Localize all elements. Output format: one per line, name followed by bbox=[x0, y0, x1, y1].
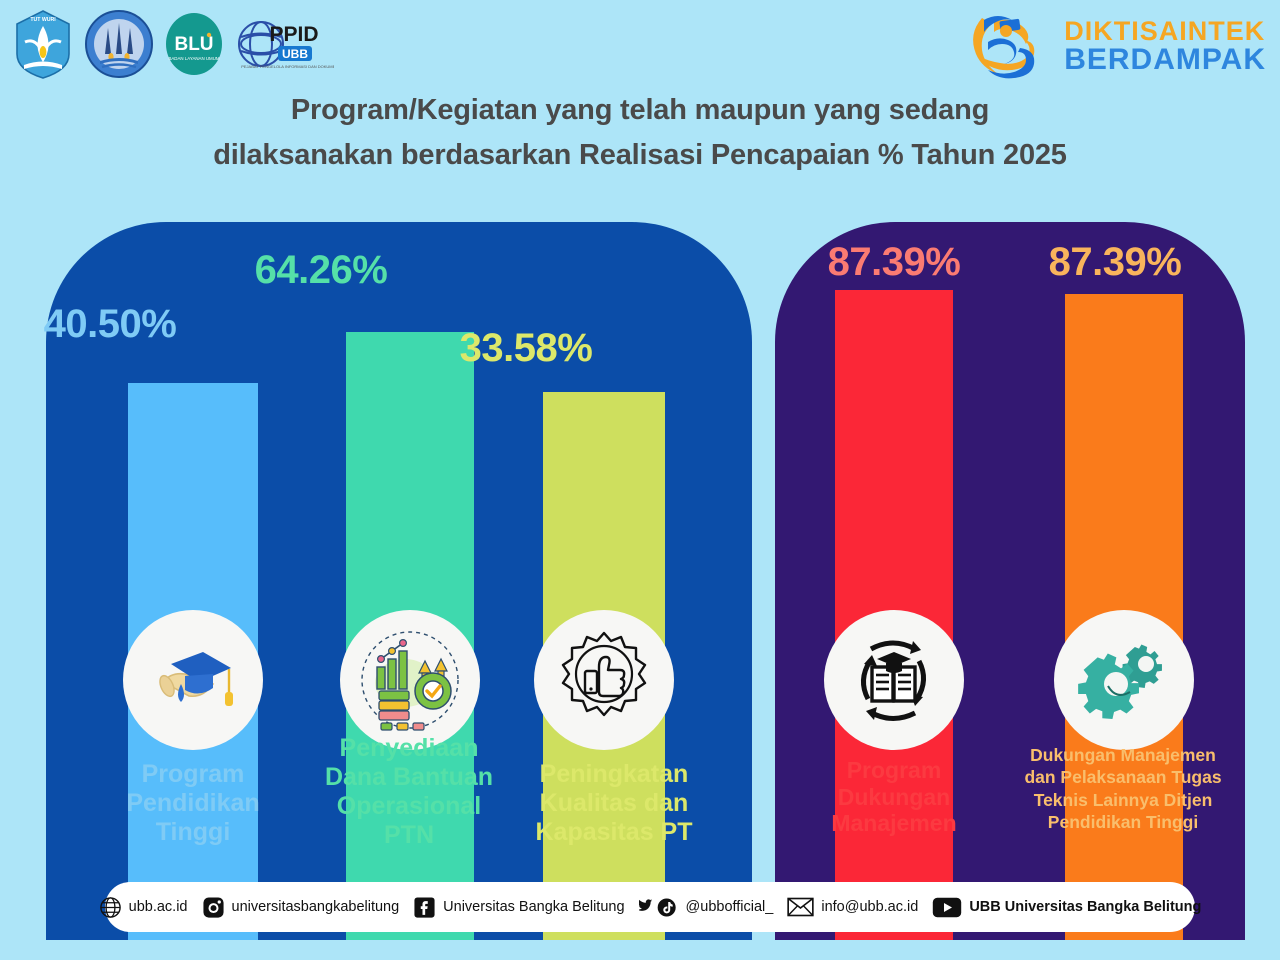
footer-social-handle-text: @ubbofficial_ bbox=[686, 899, 774, 915]
footer-instagram-text: universitasbangkabelitung bbox=[232, 899, 400, 915]
envelope-icon bbox=[787, 897, 814, 917]
program-pendidikan-tinggi-panel: 40.50% Program Pendidikan Tinggi 64.26% bbox=[46, 222, 752, 940]
brand-line-2: BERDAMPAK bbox=[1064, 43, 1266, 76]
person-swoosh-icon bbox=[964, 8, 1052, 84]
bar-label-program-dukungan-manajemen: Program Dukungan Manajemen bbox=[808, 757, 980, 837]
svg-text:BLU: BLU bbox=[174, 34, 213, 55]
program-dukungan-manajemen-panel: 87.39% Progr bbox=[775, 222, 1245, 940]
svg-text:TUT WURI: TUT WURI bbox=[30, 17, 56, 23]
title-line-2: dilaksanakan berdasarkan Realisasi Penca… bbox=[0, 133, 1280, 178]
footer-item-email[interactable]: info@ubb.ac.id bbox=[787, 897, 918, 917]
graduation-cap-diploma-icon bbox=[123, 610, 263, 750]
analytics-chart-gear-icon bbox=[340, 610, 480, 750]
universitas-bangka-belitung-seal bbox=[84, 8, 154, 80]
footer-facebook-text: Universitas Bangka Belitung bbox=[443, 899, 624, 915]
footer-item-social-handle[interactable]: @ubbofficial_ bbox=[639, 896, 774, 919]
bar-value-dukungan-manajemen-teknis: 87.39% bbox=[985, 240, 1245, 285]
tut-wuri-handayani-logo: TUT WURI bbox=[12, 8, 74, 80]
footer-youtube-text: UBB Universitas Bangka Belitung bbox=[969, 899, 1201, 915]
blu-logo: BLU BADAN LAYANAN UMUM bbox=[164, 11, 224, 77]
footer-email-text: info@ubb.ac.id bbox=[821, 899, 918, 915]
footer-item-youtube[interactable]: UBB Universitas Bangka Belitung bbox=[932, 897, 1201, 918]
facebook-icon bbox=[413, 896, 436, 919]
svg-text:PPID: PPID bbox=[269, 23, 318, 46]
book-cap-refresh-icon bbox=[824, 610, 964, 750]
footer-item-website[interactable]: ubb.ac.id bbox=[99, 896, 188, 919]
instagram-icon bbox=[202, 896, 225, 919]
thumbs-up-badge-icon bbox=[534, 610, 674, 750]
footer-website-text: ubb.ac.id bbox=[129, 899, 188, 915]
diktisaintek-berdampak-logo: DIKTISAINTEK BERDAMPAK bbox=[964, 8, 1266, 84]
bar-label-dukungan-manajemen-teknis: Dukungan Manajemen dan Pelaksanaan Tugas… bbox=[997, 744, 1249, 834]
ppid-ubb-logo: PPID UBB PEJABAT PENGELOLA INFORMASI DAN… bbox=[234, 13, 334, 75]
bar-value-program-pendidikan-tinggi: 40.50% bbox=[0, 302, 240, 347]
twitter-tiktok-icon bbox=[639, 896, 679, 919]
svg-text:UBB: UBB bbox=[282, 47, 308, 61]
bar-value-penyediaan-dana-bantuan-operasional-ptn: 64.26% bbox=[191, 248, 451, 293]
youtube-icon bbox=[932, 897, 962, 918]
infographic-canvas: TUT WURI BLU BADAN LAYANAN UMUM bbox=[0, 0, 1280, 960]
brand-line-1: DIKTISAINTEK bbox=[1064, 16, 1265, 46]
globe-icon bbox=[99, 896, 122, 919]
bar-label-peningkatan-kualitas-dan-kapasitas-pt: Peningkatan Kualitas dan Kapasitas PT bbox=[518, 760, 710, 847]
footer-item-instagram[interactable]: universitasbangkabelitung bbox=[202, 896, 400, 919]
bar-value-peningkatan-kualitas-dan-kapasitas-pt: 33.58% bbox=[396, 326, 656, 371]
footer-item-facebook[interactable]: Universitas Bangka Belitung bbox=[413, 896, 624, 919]
svg-text:BADAN LAYANAN UMUM: BADAN LAYANAN UMUM bbox=[168, 56, 219, 61]
page-title: Program/Kegiatan yang telah maupun yang … bbox=[0, 88, 1280, 178]
institution-logos: TUT WURI BLU BADAN LAYANAN UMUM bbox=[12, 8, 334, 80]
bar-label-penyediaan-dana-bantuan-operasional-ptn: Penyediaan Dana Bantuan Operasional PTN bbox=[308, 734, 510, 850]
svg-text:PEJABAT PENGELOLA INFORMASI DA: PEJABAT PENGELOLA INFORMASI DAN DOKUMENT… bbox=[241, 64, 334, 69]
title-line-1: Program/Kegiatan yang telah maupun yang … bbox=[0, 88, 1280, 133]
bar-label-program-pendidikan-tinggi: Program Pendidikan Tinggi bbox=[102, 760, 284, 847]
contact-footer-bar: ubb.ac.id universitasbangkabelitung bbox=[105, 882, 1195, 932]
gears-icon bbox=[1054, 610, 1194, 750]
